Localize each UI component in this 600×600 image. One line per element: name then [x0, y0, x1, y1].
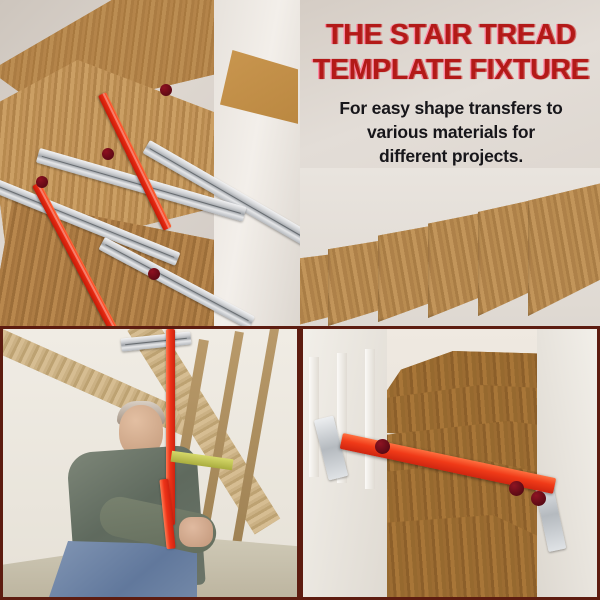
fixture-knob	[375, 439, 390, 454]
fixture-knob	[36, 176, 48, 188]
right-wall	[537, 329, 597, 597]
headline-line-1: THE STAIR TREAD	[302, 18, 600, 53]
subtitle-line-2: various materials for	[310, 120, 592, 144]
photo-winder-stairs-with-fixture	[300, 326, 600, 600]
photo-frame-inner	[303, 329, 597, 597]
photo-overhead-stair-treads	[0, 0, 300, 326]
fixture-knob	[509, 481, 524, 496]
person-jeans	[47, 541, 197, 597]
fixture-knob	[102, 148, 114, 160]
fixture-knob	[160, 84, 172, 96]
subtitle-line-3: different projects.	[310, 144, 592, 168]
bottom-section	[0, 326, 600, 600]
newel-post-wall	[214, 0, 300, 326]
person-hand	[179, 517, 213, 547]
headline-block: THE STAIR TREAD TEMPLATE FIXTURE	[302, 18, 600, 88]
subtitle-line-1: For easy shape transfers to	[310, 96, 592, 120]
headline-line-2: TEMPLATE FIXTURE	[302, 53, 600, 88]
fixture-knob	[531, 491, 546, 506]
photo-frame-inner	[3, 329, 297, 597]
photo-finished-staircase	[300, 168, 600, 326]
baluster	[309, 357, 319, 477]
baluster	[365, 349, 375, 489]
photo-man-using-fixture	[0, 326, 300, 600]
promo-collage: THE STAIR TREAD TEMPLATE FIXTURE For eas…	[0, 0, 600, 600]
subtitle-block: For easy shape transfers to various mate…	[310, 96, 592, 168]
top-section: THE STAIR TREAD TEMPLATE FIXTURE For eas…	[0, 0, 600, 326]
fixture-knob	[148, 268, 160, 280]
